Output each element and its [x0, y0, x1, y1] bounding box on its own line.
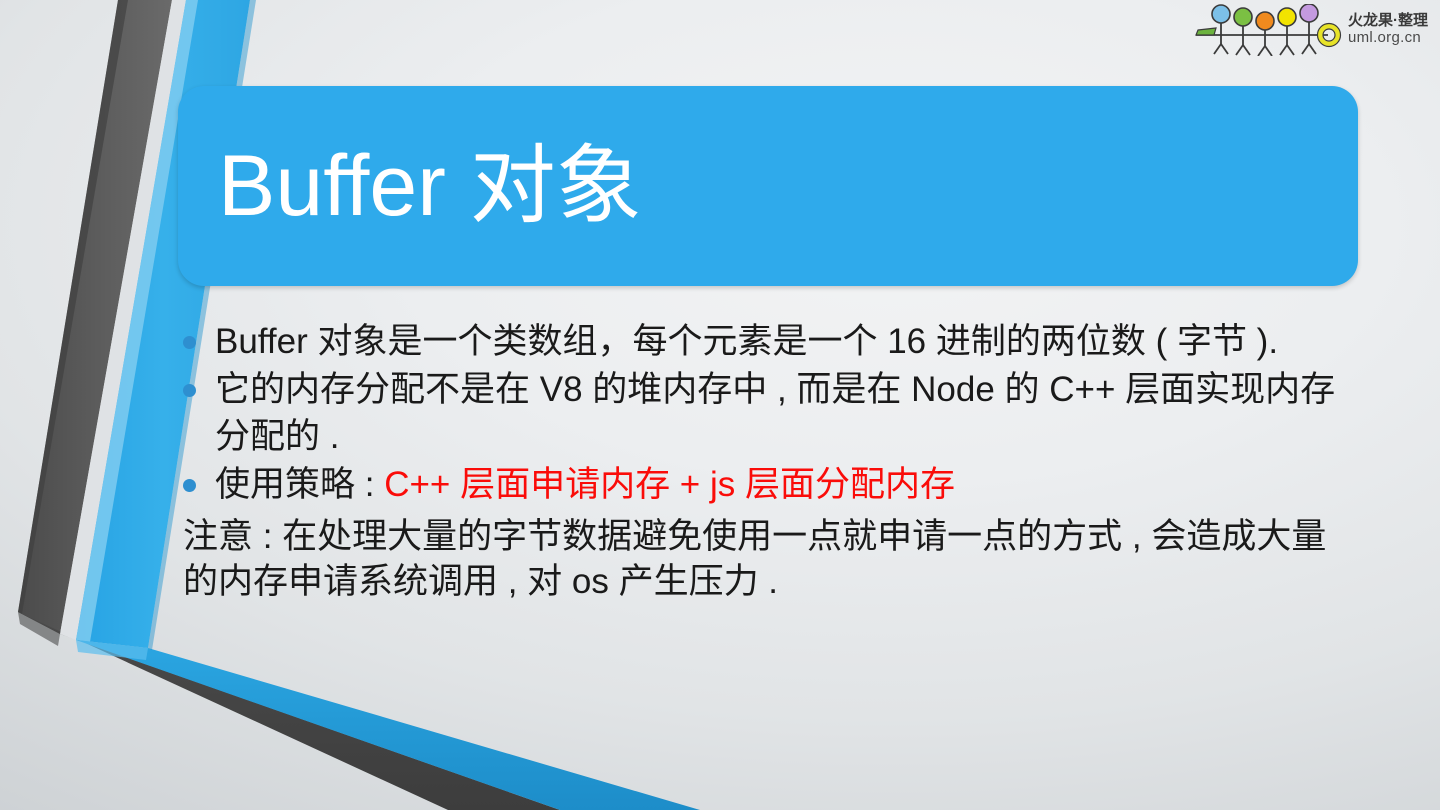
bullet-highlight: C++ 层面申请内存 + js 层面分配内存 [384, 465, 955, 504]
uml-people-logo-icon [1186, 4, 1346, 56]
blue-band-bottom [76, 640, 700, 810]
blue-band-left-highlight [76, 0, 198, 642]
logo-name: 火龙果·整理 [1348, 13, 1428, 30]
bullet-text-strategy: 使用策略 : C++ 层面申请内存 + js 层面分配内存 [215, 461, 1343, 508]
gray-band-left-bevel [18, 0, 128, 614]
bullet-label: 使用策略 : [215, 465, 384, 504]
slide: Buffer 对象 Buffer 对象是一个类数组，每个元素是一个 16 进制的… [0, 0, 1440, 810]
bullet-text: 它的内存分配不是在 V8 的堆内存中 , 而是在 Node 的 C++ 层面实现… [215, 366, 1343, 460]
frame-gap-stripe [60, 0, 186, 640]
site-logo: 火龙果·整理 uml.org.cn [1186, 2, 1436, 58]
gray-band-bottom-bevel [18, 612, 60, 646]
bullet-dot-icon [183, 384, 196, 397]
slide-title-banner: Buffer 对象 [178, 86, 1358, 286]
gray-band-bottom [18, 612, 560, 810]
bullet-item: 使用策略 : C++ 层面申请内存 + js 层面分配内存 [183, 461, 1343, 508]
note-paragraph: 注意 : 在处理大量的字节数据避免使用一点就申请一点的方式 , 会造成大量的内存… [183, 514, 1343, 604]
blue-band-bottom-highlight [76, 640, 148, 660]
bullet-item: Buffer 对象是一个类数组，每个元素是一个 16 进制的两位数 ( 字节 )… [183, 318, 1343, 365]
logo-text-block: 火龙果·整理 uml.org.cn [1348, 13, 1428, 47]
slide-body: Buffer 对象是一个类数组，每个元素是一个 16 进制的两位数 ( 字节 )… [183, 318, 1343, 604]
page-title: Buffer 对象 [178, 143, 642, 229]
bullet-dot-icon [183, 336, 196, 349]
gray-band-left [18, 0, 172, 634]
bullet-dot-icon [183, 479, 196, 492]
logo-url: uml.org.cn [1348, 30, 1428, 47]
bullet-text: Buffer 对象是一个类数组，每个元素是一个 16 进制的两位数 ( 字节 )… [215, 318, 1343, 365]
bullet-item: 它的内存分配不是在 V8 的堆内存中 , 而是在 Node 的 C++ 层面实现… [183, 366, 1343, 460]
